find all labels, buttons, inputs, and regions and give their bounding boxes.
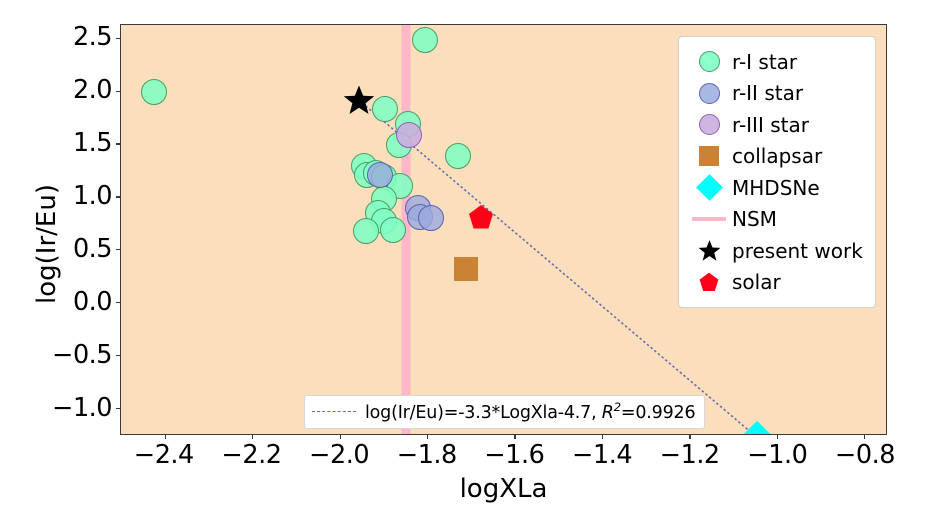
y-tick-mark: [116, 302, 121, 303]
y-tick-mark: [116, 91, 121, 92]
legend-label: NSM: [730, 207, 777, 231]
legend-item-r-III-star[interactable]: r-III star: [688, 109, 865, 141]
data-point-present-work: [343, 84, 375, 116]
y-axis-label: log(Ir/Eu): [32, 34, 62, 454]
r-symbol: R: [602, 403, 614, 423]
scatter-chart-figure: log(Ir/Eu)=-3.3*LogXla-4.7, R2=0.9926 r-…: [0, 0, 934, 523]
plot-area: log(Ir/Eu)=-3.3*LogXla-4.7, R2=0.9926 r-…: [120, 24, 887, 435]
x-tick-mark: [689, 434, 690, 439]
x-tick-label: −0.8: [835, 440, 895, 470]
legend-label: r-I star: [730, 50, 797, 74]
x-tick-mark: [514, 434, 515, 439]
legend-item-mhdsne[interactable]: MHDSNe: [688, 172, 865, 204]
y-tick-mark: [116, 355, 121, 356]
x-tick-mark: [427, 434, 428, 439]
x-axis-label: logXLa: [120, 474, 887, 504]
y-tick-mark: [116, 38, 121, 39]
legend-item-solar[interactable]: solar: [688, 267, 865, 299]
legend-label: MHDSNe: [730, 176, 820, 200]
x-tick-label: −1.6: [484, 440, 544, 470]
fit-line-swatch-icon: [312, 411, 356, 412]
x-tick-mark: [864, 434, 865, 439]
legend-label: solar: [730, 270, 781, 294]
fit-equation-annotation: log(Ir/Eu)=-3.3*LogXla-4.7, R2=0.9926: [304, 395, 705, 429]
line-pink-icon: [688, 217, 730, 221]
diamond-cyan-icon: [688, 178, 730, 197]
x-tick-mark: [165, 434, 166, 439]
data-point-r-I: [380, 217, 406, 243]
data-point-r-III: [396, 122, 422, 148]
square-brown-icon: [688, 146, 730, 166]
y-tick-mark: [116, 196, 121, 197]
y-tick-mark: [116, 408, 121, 409]
pentagon-red-icon: [688, 271, 730, 293]
data-point-mhdsne: [741, 421, 774, 434]
data-point-r-I: [372, 96, 398, 122]
legend-label: present work: [730, 239, 863, 263]
x-tick-label: −1.4: [572, 440, 632, 470]
data-point-r-II: [418, 205, 444, 231]
circle-green-icon: [688, 51, 730, 72]
legend-item-present-work[interactable]: present work: [688, 235, 865, 267]
star-black-icon: [688, 239, 730, 262]
x-tick-label: −2.0: [309, 440, 369, 470]
legend-label: r-II star: [730, 81, 803, 105]
legend-item-nsm[interactable]: NSM: [688, 204, 865, 236]
data-point-r-I: [412, 27, 438, 53]
legend-label: collapsar: [730, 144, 822, 168]
x-tick-mark: [777, 434, 778, 439]
data-point-r-I: [353, 218, 379, 244]
circle-purple-icon: [688, 114, 730, 135]
legend-label: r-III star: [730, 113, 809, 137]
x-tick-label: −1.0: [747, 440, 807, 470]
legend-item-r-II-star[interactable]: r-II star: [688, 78, 865, 110]
data-point-r-II: [367, 162, 393, 188]
legend-item-collapsar[interactable]: collapsar: [688, 141, 865, 173]
data-point-collapsar: [454, 257, 478, 281]
x-tick-label: −2.2: [222, 440, 282, 470]
y-tick-mark: [116, 143, 121, 144]
data-point-r-I: [445, 143, 471, 169]
fit-equation-text: log(Ir/Eu)=-3.3*LogXla-4.7, R2=0.9926: [365, 400, 695, 423]
data-point-solar: [467, 203, 495, 231]
x-tick-mark: [602, 434, 603, 439]
x-tick-label: −1.8: [397, 440, 457, 470]
y-tick-mark: [116, 249, 121, 250]
r-value: =0.9926: [621, 403, 696, 423]
data-point-r-I: [141, 79, 167, 105]
legend-item-r-I-star[interactable]: r-I star: [688, 46, 865, 78]
circle-blue-icon: [688, 83, 730, 104]
x-tick-mark: [340, 434, 341, 439]
x-tick-label: −2.4: [134, 440, 194, 470]
x-tick-mark: [252, 434, 253, 439]
chart-legend: r-I star r-II star r-III star collapsar: [678, 36, 876, 308]
x-tick-label: −1.2: [660, 440, 720, 470]
r-exponent: 2: [614, 400, 621, 414]
